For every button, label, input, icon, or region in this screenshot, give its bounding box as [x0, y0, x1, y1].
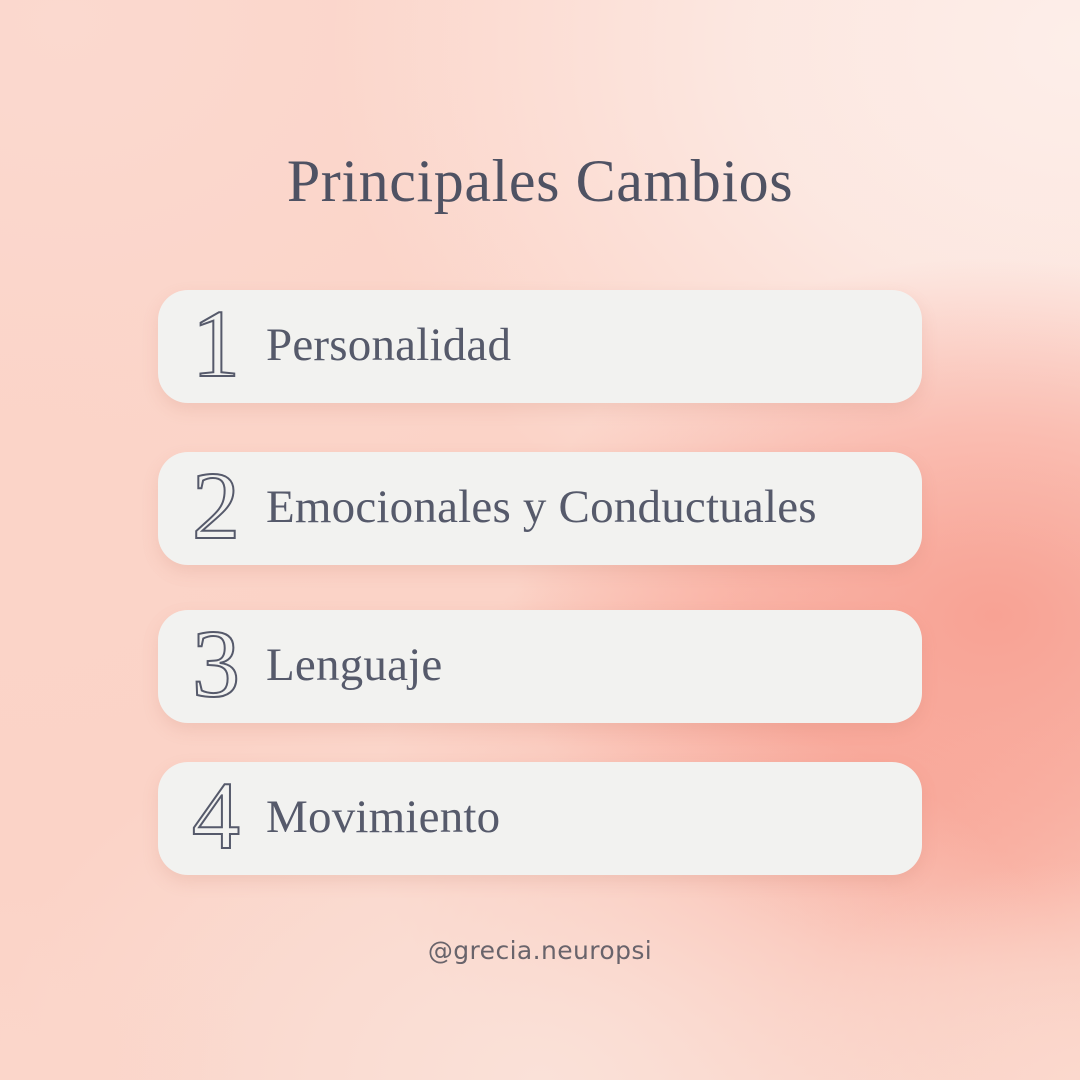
- list-item: 3 Lenguaje: [158, 610, 922, 723]
- list-item-label-4: Movimiento: [266, 790, 500, 844]
- list-item-number-4: 4: [192, 768, 266, 864]
- list-item-label-1: Personalidad: [266, 318, 511, 372]
- list-item-label-3: Lenguaje: [266, 638, 442, 692]
- list-item-number-2: 2: [192, 458, 266, 554]
- account-handle: @grecia.neuropsi: [0, 936, 1080, 965]
- list-item-label-2: Emocionales y Conductuales: [266, 480, 817, 534]
- list-item-number-3: 3: [192, 616, 266, 712]
- list-item: 2 Emocionales y Conductuales: [158, 452, 922, 565]
- list-item-number-1: 1: [192, 296, 266, 392]
- page-title: Principales Cambios: [0, 148, 1080, 214]
- slide-canvas: Principales Cambios 1 Personalidad 2 Emo…: [0, 0, 1080, 1080]
- list-item: 4 Movimiento: [158, 762, 922, 875]
- list-item: 1 Personalidad: [158, 290, 922, 403]
